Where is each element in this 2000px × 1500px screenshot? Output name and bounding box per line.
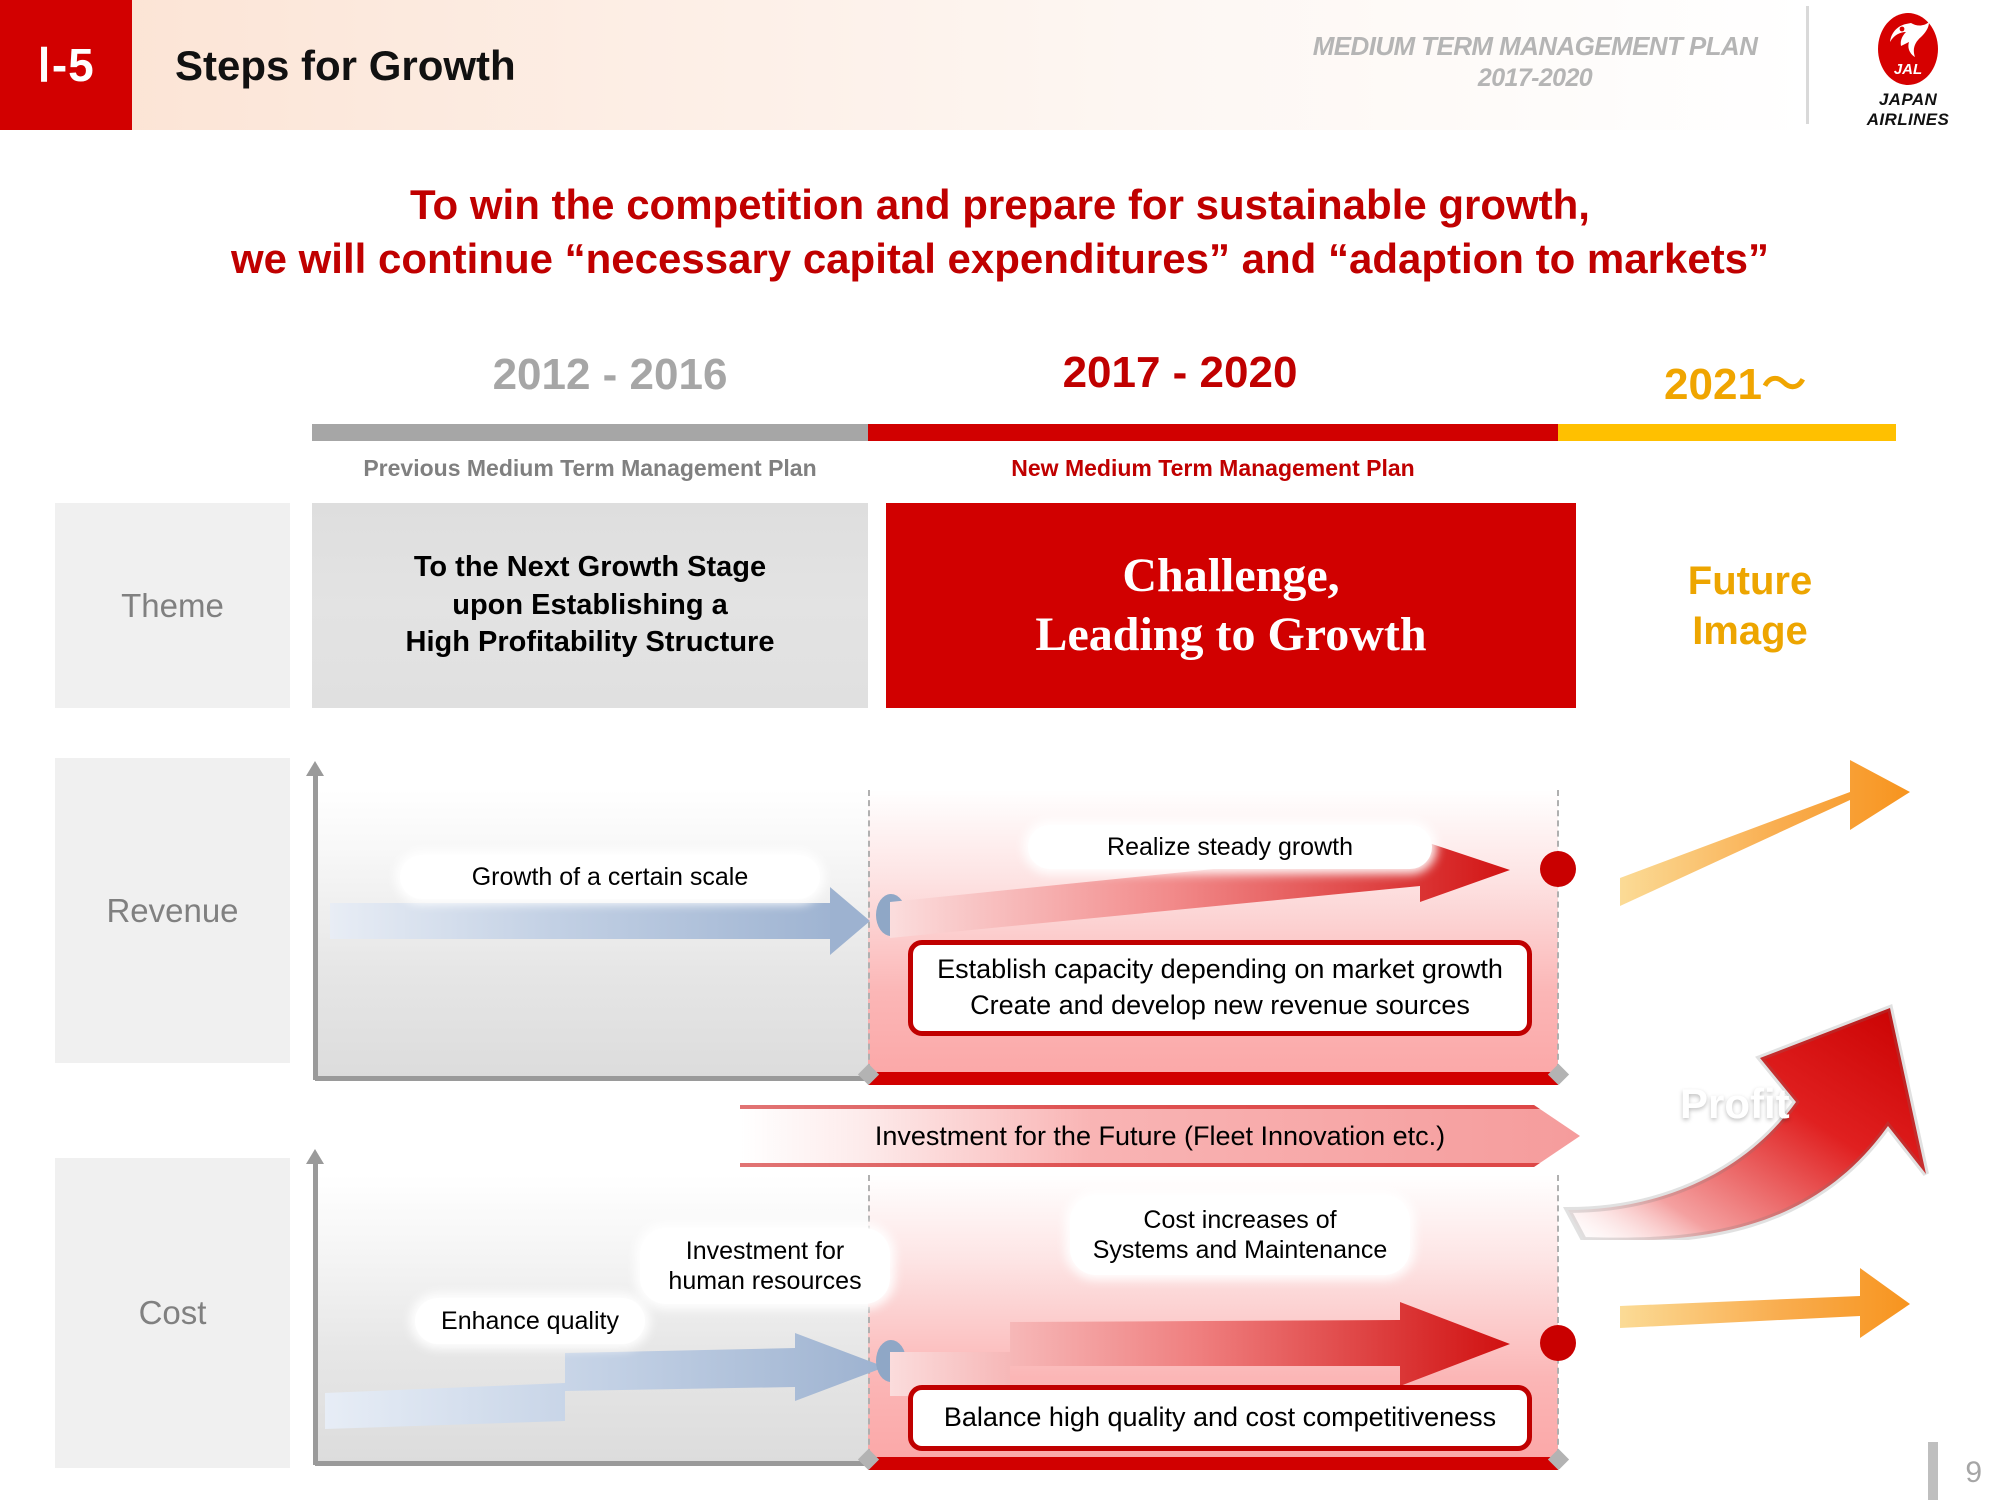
cost-systems-line2: Systems and Maintenance xyxy=(1093,1235,1388,1265)
cost-y-axis xyxy=(313,1163,318,1465)
revenue-previous-arrow-head xyxy=(830,887,870,955)
theme-previous-line1: To the Next Growth Stage xyxy=(406,549,775,587)
cost-current-actions-box: Balance high quality and cost competitiv… xyxy=(908,1385,1532,1451)
revenue-x-axis xyxy=(315,1076,868,1081)
cost-endpoint-dot xyxy=(1540,1325,1576,1361)
timeline-caption-current: New Medium Term Management Plan xyxy=(868,455,1558,482)
revenue-current-actions-box: Establish capacity depending on market g… xyxy=(908,940,1532,1036)
plan-subtitle: MEDIUM TERM MANAGEMENT PLAN 2017-2020 xyxy=(1300,30,1770,94)
brand-name: JAPAN AIRLINES xyxy=(1838,90,1978,130)
era-label-current: 2017 - 2020 xyxy=(1020,348,1340,398)
timeline-bar-current xyxy=(868,424,1558,441)
page-title: Steps for Growth xyxy=(175,42,516,90)
theme-box-previous: To the Next Growth Stage upon Establishi… xyxy=(312,503,868,708)
plan-subtitle-line1: MEDIUM TERM MANAGEMENT PLAN xyxy=(1313,31,1758,61)
era-label-future: 2021〜 xyxy=(1590,348,1880,412)
cost-hr-line1: Investment for xyxy=(668,1236,861,1266)
theme-box-current: Challenge, Leading to Growth xyxy=(886,503,1576,708)
page-number: 9 xyxy=(1965,1456,1982,1490)
plan-subtitle-line2: 2017-2020 xyxy=(1300,63,1770,94)
revenue-action-line1: Establish capacity depending on market g… xyxy=(937,952,1503,988)
revenue-y-axis xyxy=(313,775,318,1080)
revenue-divider-2021 xyxy=(1557,790,1559,1080)
revenue-action-line2: Create and develop new revenue sources xyxy=(937,988,1503,1024)
cost-divider-2021 xyxy=(1557,1175,1559,1465)
slide-number-badge: Ⅰ-5 xyxy=(0,0,132,130)
header-divider xyxy=(1806,6,1809,124)
row-label-revenue: Revenue xyxy=(55,758,290,1063)
timeline-caption-previous: Previous Medium Term Management Plan xyxy=(312,455,868,482)
cost-x-axis xyxy=(315,1461,868,1466)
row-label-theme: Theme xyxy=(55,503,290,708)
cost-bubble-systems-maintenance: Cost increases of Systems and Maintenanc… xyxy=(1070,1195,1410,1275)
future-cost-arrow-icon xyxy=(1580,1260,2000,1380)
revenue-current-bubble: Realize steady growth xyxy=(1028,825,1432,869)
theme-future-line1: Future xyxy=(1688,556,1812,606)
row-label-cost: Cost xyxy=(55,1158,290,1468)
investment-for-future-banner: Investment for the Future (Fleet Innovat… xyxy=(740,1105,1580,1167)
svg-text:JAL: JAL xyxy=(1894,61,1922,78)
cost-x-axis-current xyxy=(868,1457,1558,1470)
jal-logo: JAL JAPAN AIRLINES xyxy=(1838,12,1978,120)
theme-current-line2: Leading to Growth xyxy=(1035,606,1426,665)
headline: To win the competition and prepare for s… xyxy=(0,178,2000,286)
jal-crane-icon: JAL xyxy=(1876,12,1940,86)
timeline-bar-previous xyxy=(312,424,868,441)
headline-line-2: we will continue “necessary capital expe… xyxy=(0,232,2000,286)
timeline-bar-future xyxy=(1558,424,1896,441)
theme-current-line1: Challenge, xyxy=(1035,547,1426,606)
slide-header: Ⅰ-5 Steps for Growth MEDIUM TERM MANAGEM… xyxy=(0,0,2000,130)
profit-label: Profit xyxy=(1680,1080,1790,1128)
theme-box-future: Future Image xyxy=(1620,503,1880,708)
cost-hr-line2: human resources xyxy=(668,1266,861,1296)
era-label-previous: 2012 - 2016 xyxy=(400,350,820,400)
cost-systems-line1: Cost increases of xyxy=(1093,1205,1388,1235)
revenue-previous-arrow-body xyxy=(330,903,830,939)
cost-bubble-human-resources: Investment for human resources xyxy=(640,1228,890,1304)
profit-arrow-icon xyxy=(1560,880,2000,1240)
headline-line-1: To win the competition and prepare for s… xyxy=(0,178,2000,232)
cost-bubble-enhance-quality: Enhance quality xyxy=(415,1298,645,1344)
revenue-x-axis-current xyxy=(868,1072,1558,1085)
theme-previous-line3: High Profitability Structure xyxy=(406,624,775,662)
page-number-bar xyxy=(1928,1442,1938,1500)
revenue-previous-bubble: Growth of a certain scale xyxy=(400,855,820,899)
theme-future-line2: Image xyxy=(1688,606,1812,656)
theme-previous-line2: upon Establishing a xyxy=(406,587,775,625)
